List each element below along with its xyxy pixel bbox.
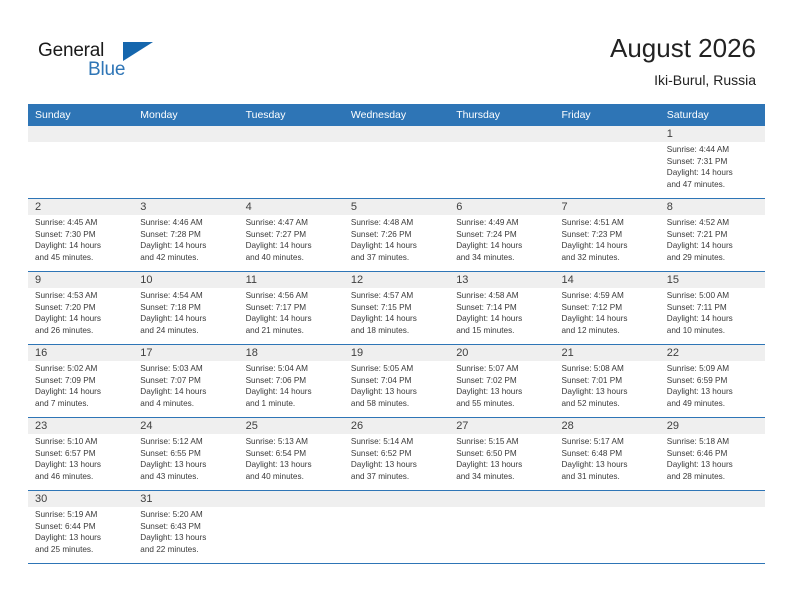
calendar-body: 1Sunrise: 4:44 AMSunset: 7:31 PMDaylight… (28, 126, 765, 564)
day-details: Sunrise: 4:52 AMSunset: 7:21 PMDaylight:… (660, 215, 765, 263)
sunrise-text: Sunrise: 5:18 AM (667, 436, 759, 448)
day-details: Sunrise: 4:59 AMSunset: 7:12 PMDaylight:… (554, 288, 659, 336)
calendar-day-cell[interactable]: 29Sunrise: 5:18 AMSunset: 6:46 PMDayligh… (660, 418, 765, 491)
calendar-day-cell[interactable]: 23Sunrise: 5:10 AMSunset: 6:57 PMDayligh… (28, 418, 133, 491)
daylight-text: Daylight: 13 hours (351, 386, 443, 398)
day-details: Sunrise: 4:56 AMSunset: 7:17 PMDaylight:… (239, 288, 344, 336)
sunrise-text: Sunrise: 4:52 AM (667, 217, 759, 229)
sunset-text: Sunset: 6:57 PM (35, 448, 127, 460)
day-details: Sunrise: 5:19 AMSunset: 6:44 PMDaylight:… (28, 507, 133, 555)
calendar-day-cell[interactable]: 28Sunrise: 5:17 AMSunset: 6:48 PMDayligh… (554, 418, 659, 491)
day-number: 15 (660, 272, 765, 288)
daylight-text-cont: and 4 minutes. (140, 398, 232, 410)
daylight-text-cont: and 22 minutes. (140, 544, 232, 556)
day-cell-inner: 13Sunrise: 4:58 AMSunset: 7:14 PMDayligh… (449, 272, 554, 344)
sunrise-text: Sunrise: 5:10 AM (35, 436, 127, 448)
sunrise-text: Sunrise: 5:08 AM (561, 363, 653, 375)
daylight-text: Daylight: 14 hours (140, 313, 232, 325)
day-details: Sunrise: 5:03 AMSunset: 7:07 PMDaylight:… (133, 361, 238, 409)
day-cell-inner: 11Sunrise: 4:56 AMSunset: 7:17 PMDayligh… (239, 272, 344, 344)
day-number: 23 (28, 418, 133, 434)
day-cell-inner: 4Sunrise: 4:47 AMSunset: 7:27 PMDaylight… (239, 199, 344, 271)
sunset-text: Sunset: 7:07 PM (140, 375, 232, 387)
day-cell-inner (449, 126, 554, 198)
day-number: 29 (660, 418, 765, 434)
calendar-day-cell-empty (344, 491, 449, 564)
calendar-day-cell-empty (239, 126, 344, 199)
day-details: Sunrise: 4:45 AMSunset: 7:30 PMDaylight:… (28, 215, 133, 263)
day-cell-inner: 9Sunrise: 4:53 AMSunset: 7:20 PMDaylight… (28, 272, 133, 344)
day-number (239, 126, 344, 142)
daylight-text: Daylight: 14 hours (35, 386, 127, 398)
sunset-text: Sunset: 7:31 PM (667, 156, 759, 168)
sunrise-text: Sunrise: 5:05 AM (351, 363, 443, 375)
sunrise-text: Sunrise: 4:51 AM (561, 217, 653, 229)
sunset-text: Sunset: 7:01 PM (561, 375, 653, 387)
sunset-text: Sunset: 7:21 PM (667, 229, 759, 241)
logo-text-blue: Blue (88, 59, 125, 81)
sunrise-text: Sunrise: 4:59 AM (561, 290, 653, 302)
sunset-text: Sunset: 7:24 PM (456, 229, 548, 241)
daylight-text-cont: and 32 minutes. (561, 252, 653, 264)
day-cell-inner: 29Sunrise: 5:18 AMSunset: 6:46 PMDayligh… (660, 418, 765, 490)
daylight-text: Daylight: 14 hours (246, 386, 338, 398)
daylight-text: Daylight: 14 hours (140, 240, 232, 252)
daylight-text-cont: and 18 minutes. (351, 325, 443, 337)
sunrise-text: Sunrise: 5:02 AM (35, 363, 127, 375)
day-number: 6 (449, 199, 554, 215)
page-subtitle: Iki-Burul, Russia (610, 70, 756, 90)
calendar-day-cell-empty (133, 126, 238, 199)
day-number: 28 (554, 418, 659, 434)
calendar-day-cell[interactable]: 14Sunrise: 4:59 AMSunset: 7:12 PMDayligh… (554, 272, 659, 345)
sunset-text: Sunset: 7:09 PM (35, 375, 127, 387)
calendar-day-cell-empty (554, 491, 659, 564)
day-cell-inner: 16Sunrise: 5:02 AMSunset: 7:09 PMDayligh… (28, 345, 133, 417)
title-block: August 2026 Iki-Burul, Russia (610, 32, 756, 90)
day-details: Sunrise: 5:15 AMSunset: 6:50 PMDaylight:… (449, 434, 554, 482)
daylight-text-cont: and 15 minutes. (456, 325, 548, 337)
day-number: 20 (449, 345, 554, 361)
daylight-text-cont: and 37 minutes. (351, 471, 443, 483)
daylight-text: Daylight: 14 hours (351, 240, 443, 252)
day-cell-inner: 25Sunrise: 5:13 AMSunset: 6:54 PMDayligh… (239, 418, 344, 490)
day-details: Sunrise: 4:54 AMSunset: 7:18 PMDaylight:… (133, 288, 238, 336)
day-details: Sunrise: 5:14 AMSunset: 6:52 PMDaylight:… (344, 434, 449, 482)
day-number (554, 126, 659, 142)
day-cell-inner (554, 126, 659, 198)
day-cell-inner: 1Sunrise: 4:44 AMSunset: 7:31 PMDaylight… (660, 126, 765, 198)
daylight-text: Daylight: 13 hours (246, 459, 338, 471)
sunset-text: Sunset: 7:15 PM (351, 302, 443, 314)
calendar-day-cell[interactable]: 27Sunrise: 5:15 AMSunset: 6:50 PMDayligh… (449, 418, 554, 491)
day-cell-inner (133, 126, 238, 198)
day-cell-inner: 22Sunrise: 5:09 AMSunset: 6:59 PMDayligh… (660, 345, 765, 417)
day-details: Sunrise: 4:57 AMSunset: 7:15 PMDaylight:… (344, 288, 449, 336)
daylight-text-cont: and 24 minutes. (140, 325, 232, 337)
day-number: 21 (554, 345, 659, 361)
daylight-text: Daylight: 13 hours (351, 459, 443, 471)
sunrise-text: Sunrise: 4:45 AM (35, 217, 127, 229)
daylight-text-cont: and 47 minutes. (667, 179, 759, 191)
sunset-text: Sunset: 7:20 PM (35, 302, 127, 314)
sunrise-text: Sunrise: 5:07 AM (456, 363, 548, 375)
daylight-text: Daylight: 13 hours (456, 459, 548, 471)
day-details: Sunrise: 5:12 AMSunset: 6:55 PMDaylight:… (133, 434, 238, 482)
sunset-text: Sunset: 6:52 PM (351, 448, 443, 460)
general-blue-logo[interactable]: General Blue (38, 40, 158, 90)
day-details: Sunrise: 5:13 AMSunset: 6:54 PMDaylight:… (239, 434, 344, 482)
sunset-text: Sunset: 6:59 PM (667, 375, 759, 387)
weekday-header-monday: Monday (133, 104, 238, 126)
sunrise-text: Sunrise: 4:48 AM (351, 217, 443, 229)
calendar-day-cell[interactable]: 3Sunrise: 4:46 AMSunset: 7:28 PMDaylight… (133, 199, 238, 272)
day-details: Sunrise: 5:10 AMSunset: 6:57 PMDaylight:… (28, 434, 133, 482)
page-header: General Blue August 2026 Iki-Burul, Russ… (0, 0, 792, 100)
day-number (660, 491, 765, 507)
day-number: 9 (28, 272, 133, 288)
day-number (344, 491, 449, 507)
daylight-text: Daylight: 14 hours (456, 240, 548, 252)
calendar-day-cell[interactable]: 15Sunrise: 5:00 AMSunset: 7:11 PMDayligh… (660, 272, 765, 345)
day-cell-inner: 8Sunrise: 4:52 AMSunset: 7:21 PMDaylight… (660, 199, 765, 271)
day-number: 5 (344, 199, 449, 215)
day-cell-inner (554, 491, 659, 563)
calendar-week-row: 2Sunrise: 4:45 AMSunset: 7:30 PMDaylight… (28, 199, 765, 272)
day-cell-inner: 24Sunrise: 5:12 AMSunset: 6:55 PMDayligh… (133, 418, 238, 490)
weekday-header-sunday: Sunday (28, 104, 133, 126)
daylight-text: Daylight: 14 hours (35, 240, 127, 252)
calendar-day-cell[interactable]: 18Sunrise: 5:04 AMSunset: 7:06 PMDayligh… (239, 345, 344, 418)
weekday-header-thursday: Thursday (449, 104, 554, 126)
daylight-text: Daylight: 14 hours (561, 240, 653, 252)
calendar-day-cell[interactable]: 5Sunrise: 4:48 AMSunset: 7:26 PMDaylight… (344, 199, 449, 272)
day-number: 11 (239, 272, 344, 288)
daylight-text-cont: and 1 minute. (246, 398, 338, 410)
daylight-text-cont: and 25 minutes. (35, 544, 127, 556)
calendar-day-cell[interactable]: 8Sunrise: 4:52 AMSunset: 7:21 PMDaylight… (660, 199, 765, 272)
sunrise-text: Sunrise: 4:58 AM (456, 290, 548, 302)
calendar-day-cell-empty (660, 491, 765, 564)
sunset-text: Sunset: 7:18 PM (140, 302, 232, 314)
day-details: Sunrise: 4:51 AMSunset: 7:23 PMDaylight:… (554, 215, 659, 263)
day-cell-inner (28, 126, 133, 198)
weekday-header-saturday: Saturday (660, 104, 765, 126)
daylight-text-cont: and 42 minutes. (140, 252, 232, 264)
day-cell-inner (239, 126, 344, 198)
day-number: 18 (239, 345, 344, 361)
calendar-day-cell[interactable]: 20Sunrise: 5:07 AMSunset: 7:02 PMDayligh… (449, 345, 554, 418)
sunset-text: Sunset: 6:48 PM (561, 448, 653, 460)
day-cell-inner: 26Sunrise: 5:14 AMSunset: 6:52 PMDayligh… (344, 418, 449, 490)
day-number (344, 126, 449, 142)
blue-triangle-flag-icon (123, 42, 153, 61)
day-cell-inner: 18Sunrise: 5:04 AMSunset: 7:06 PMDayligh… (239, 345, 344, 417)
daylight-text-cont: and 28 minutes. (667, 471, 759, 483)
day-cell-inner: 5Sunrise: 4:48 AMSunset: 7:26 PMDaylight… (344, 199, 449, 271)
calendar-day-cell[interactable]: 26Sunrise: 5:14 AMSunset: 6:52 PMDayligh… (344, 418, 449, 491)
day-number: 13 (449, 272, 554, 288)
daylight-text: Daylight: 14 hours (667, 167, 759, 179)
daylight-text: Daylight: 13 hours (561, 386, 653, 398)
day-number: 10 (133, 272, 238, 288)
daylight-text: Daylight: 14 hours (456, 313, 548, 325)
day-number: 24 (133, 418, 238, 434)
daylight-text: Daylight: 13 hours (35, 459, 127, 471)
day-number: 16 (28, 345, 133, 361)
calendar-day-cell[interactable]: 21Sunrise: 5:08 AMSunset: 7:01 PMDayligh… (554, 345, 659, 418)
calendar-day-cell[interactable]: 22Sunrise: 5:09 AMSunset: 6:59 PMDayligh… (660, 345, 765, 418)
sunrise-text: Sunrise: 5:12 AM (140, 436, 232, 448)
daylight-text-cont: and 34 minutes. (456, 252, 548, 264)
day-cell-inner: 3Sunrise: 4:46 AMSunset: 7:28 PMDaylight… (133, 199, 238, 271)
daylight-text-cont: and 29 minutes. (667, 252, 759, 264)
day-details: Sunrise: 4:53 AMSunset: 7:20 PMDaylight:… (28, 288, 133, 336)
day-number: 26 (344, 418, 449, 434)
day-details: Sunrise: 5:05 AMSunset: 7:04 PMDaylight:… (344, 361, 449, 409)
weekday-header-row: Sunday Monday Tuesday Wednesday Thursday… (28, 104, 765, 126)
daylight-text: Daylight: 13 hours (456, 386, 548, 398)
sunset-text: Sunset: 6:46 PM (667, 448, 759, 460)
day-details: Sunrise: 5:09 AMSunset: 6:59 PMDaylight:… (660, 361, 765, 409)
daylight-text-cont: and 26 minutes. (35, 325, 127, 337)
sunset-text: Sunset: 6:50 PM (456, 448, 548, 460)
day-cell-inner: 23Sunrise: 5:10 AMSunset: 6:57 PMDayligh… (28, 418, 133, 490)
day-cell-inner: 15Sunrise: 5:00 AMSunset: 7:11 PMDayligh… (660, 272, 765, 344)
daylight-text: Daylight: 14 hours (140, 386, 232, 398)
daylight-text-cont: and 31 minutes. (561, 471, 653, 483)
day-details: Sunrise: 4:48 AMSunset: 7:26 PMDaylight:… (344, 215, 449, 263)
daylight-text-cont: and 34 minutes. (456, 471, 548, 483)
day-number: 1 (660, 126, 765, 142)
day-number: 27 (449, 418, 554, 434)
daylight-text-cont: and 45 minutes. (35, 252, 127, 264)
day-cell-inner: 14Sunrise: 4:59 AMSunset: 7:12 PMDayligh… (554, 272, 659, 344)
day-number (239, 491, 344, 507)
sunset-text: Sunset: 7:02 PM (456, 375, 548, 387)
sunset-text: Sunset: 7:12 PM (561, 302, 653, 314)
day-cell-inner (449, 491, 554, 563)
calendar-day-cell[interactable]: 31Sunrise: 5:20 AMSunset: 6:43 PMDayligh… (133, 491, 238, 564)
day-number (133, 126, 238, 142)
sunrise-text: Sunrise: 4:44 AM (667, 144, 759, 156)
sunset-text: Sunset: 7:28 PM (140, 229, 232, 241)
daylight-text: Daylight: 14 hours (667, 240, 759, 252)
calendar-table: Sunday Monday Tuesday Wednesday Thursday… (28, 104, 765, 564)
sunrise-text: Sunrise: 5:20 AM (140, 509, 232, 521)
day-cell-inner (239, 491, 344, 563)
sunset-text: Sunset: 6:54 PM (246, 448, 338, 460)
daylight-text: Daylight: 14 hours (35, 313, 127, 325)
calendar-day-cell[interactable]: 7Sunrise: 4:51 AMSunset: 7:23 PMDaylight… (554, 199, 659, 272)
day-cell-inner: 17Sunrise: 5:03 AMSunset: 7:07 PMDayligh… (133, 345, 238, 417)
daylight-text-cont: and 43 minutes. (140, 471, 232, 483)
calendar-week-row: 30Sunrise: 5:19 AMSunset: 6:44 PMDayligh… (28, 491, 765, 564)
day-cell-inner: 28Sunrise: 5:17 AMSunset: 6:48 PMDayligh… (554, 418, 659, 490)
day-number (554, 491, 659, 507)
sunset-text: Sunset: 7:30 PM (35, 229, 127, 241)
sunset-text: Sunset: 7:17 PM (246, 302, 338, 314)
calendar-page: General Blue August 2026 Iki-Burul, Russ… (0, 0, 792, 612)
day-details: Sunrise: 5:17 AMSunset: 6:48 PMDaylight:… (554, 434, 659, 482)
daylight-text-cont: and 21 minutes. (246, 325, 338, 337)
calendar-day-cell-empty (239, 491, 344, 564)
day-number: 2 (28, 199, 133, 215)
sunset-text: Sunset: 7:23 PM (561, 229, 653, 241)
weekday-header-tuesday: Tuesday (239, 104, 344, 126)
day-number: 3 (133, 199, 238, 215)
day-details: Sunrise: 5:08 AMSunset: 7:01 PMDaylight:… (554, 361, 659, 409)
calendar-day-cell-empty (344, 126, 449, 199)
weekday-header-friday: Friday (554, 104, 659, 126)
day-number (28, 126, 133, 142)
sunset-text: Sunset: 7:06 PM (246, 375, 338, 387)
sunrise-text: Sunrise: 4:49 AM (456, 217, 548, 229)
day-number: 14 (554, 272, 659, 288)
day-details: Sunrise: 4:44 AMSunset: 7:31 PMDaylight:… (660, 142, 765, 190)
day-cell-inner (344, 126, 449, 198)
daylight-text-cont: and 52 minutes. (561, 398, 653, 410)
calendar-week-row: 9Sunrise: 4:53 AMSunset: 7:20 PMDaylight… (28, 272, 765, 345)
day-cell-inner: 30Sunrise: 5:19 AMSunset: 6:44 PMDayligh… (28, 491, 133, 563)
sunset-text: Sunset: 7:11 PM (667, 302, 759, 314)
calendar-day-cell[interactable]: 25Sunrise: 5:13 AMSunset: 6:54 PMDayligh… (239, 418, 344, 491)
sunset-text: Sunset: 6:44 PM (35, 521, 127, 533)
sunset-text: Sunset: 7:14 PM (456, 302, 548, 314)
day-cell-inner: 12Sunrise: 4:57 AMSunset: 7:15 PMDayligh… (344, 272, 449, 344)
daylight-text: Daylight: 14 hours (667, 313, 759, 325)
calendar-day-cell[interactable]: 12Sunrise: 4:57 AMSunset: 7:15 PMDayligh… (344, 272, 449, 345)
daylight-text-cont: and 10 minutes. (667, 325, 759, 337)
day-number: 12 (344, 272, 449, 288)
calendar-day-cell-empty (28, 126, 133, 199)
day-number: 8 (660, 199, 765, 215)
calendar-day-cell[interactable]: 4Sunrise: 4:47 AMSunset: 7:27 PMDaylight… (239, 199, 344, 272)
calendar-day-cell[interactable]: 6Sunrise: 4:49 AMSunset: 7:24 PMDaylight… (449, 199, 554, 272)
sunrise-text: Sunrise: 5:00 AM (667, 290, 759, 302)
daylight-text: Daylight: 13 hours (140, 459, 232, 471)
day-number: 25 (239, 418, 344, 434)
day-number: 19 (344, 345, 449, 361)
daylight-text: Daylight: 13 hours (140, 532, 232, 544)
calendar-day-cell[interactable]: 10Sunrise: 4:54 AMSunset: 7:18 PMDayligh… (133, 272, 238, 345)
daylight-text: Daylight: 13 hours (35, 532, 127, 544)
day-cell-inner: 7Sunrise: 4:51 AMSunset: 7:23 PMDaylight… (554, 199, 659, 271)
sunrise-text: Sunrise: 5:19 AM (35, 509, 127, 521)
day-details: Sunrise: 5:07 AMSunset: 7:02 PMDaylight:… (449, 361, 554, 409)
sunrise-text: Sunrise: 4:53 AM (35, 290, 127, 302)
calendar-day-cell-empty (449, 126, 554, 199)
day-number: 30 (28, 491, 133, 507)
day-details: Sunrise: 5:04 AMSunset: 7:06 PMDaylight:… (239, 361, 344, 409)
daylight-text: Daylight: 13 hours (561, 459, 653, 471)
sunrise-text: Sunrise: 5:03 AM (140, 363, 232, 375)
day-details: Sunrise: 5:02 AMSunset: 7:09 PMDaylight:… (28, 361, 133, 409)
daylight-text-cont: and 55 minutes. (456, 398, 548, 410)
daylight-text: Daylight: 13 hours (667, 386, 759, 398)
sunrise-text: Sunrise: 5:09 AM (667, 363, 759, 375)
sunset-text: Sunset: 6:43 PM (140, 521, 232, 533)
calendar-week-row: 1Sunrise: 4:44 AMSunset: 7:31 PMDaylight… (28, 126, 765, 199)
day-details: Sunrise: 4:58 AMSunset: 7:14 PMDaylight:… (449, 288, 554, 336)
daylight-text: Daylight: 14 hours (351, 313, 443, 325)
daylight-text: Daylight: 14 hours (561, 313, 653, 325)
calendar-day-cell[interactable]: 19Sunrise: 5:05 AMSunset: 7:04 PMDayligh… (344, 345, 449, 418)
sunrise-text: Sunrise: 5:13 AM (246, 436, 338, 448)
sunrise-text: Sunrise: 4:56 AM (246, 290, 338, 302)
calendar-day-cell-empty (554, 126, 659, 199)
day-cell-inner: 10Sunrise: 4:54 AMSunset: 7:18 PMDayligh… (133, 272, 238, 344)
calendar-day-cell[interactable]: 30Sunrise: 5:19 AMSunset: 6:44 PMDayligh… (28, 491, 133, 564)
day-cell-inner: 31Sunrise: 5:20 AMSunset: 6:43 PMDayligh… (133, 491, 238, 563)
day-details: Sunrise: 5:00 AMSunset: 7:11 PMDaylight:… (660, 288, 765, 336)
day-details: Sunrise: 5:18 AMSunset: 6:46 PMDaylight:… (660, 434, 765, 482)
calendar-day-cell[interactable]: 9Sunrise: 4:53 AMSunset: 7:20 PMDaylight… (28, 272, 133, 345)
day-number: 17 (133, 345, 238, 361)
daylight-text-cont: and 40 minutes. (246, 252, 338, 264)
calendar-day-cell[interactable]: 17Sunrise: 5:03 AMSunset: 7:07 PMDayligh… (133, 345, 238, 418)
calendar-day-cell[interactable]: 1Sunrise: 4:44 AMSunset: 7:31 PMDaylight… (660, 126, 765, 199)
daylight-text-cont: and 46 minutes. (35, 471, 127, 483)
day-cell-inner: 2Sunrise: 4:45 AMSunset: 7:30 PMDaylight… (28, 199, 133, 271)
daylight-text-cont: and 40 minutes. (246, 471, 338, 483)
sunset-text: Sunset: 7:04 PM (351, 375, 443, 387)
day-number: 7 (554, 199, 659, 215)
calendar-day-cell[interactable]: 2Sunrise: 4:45 AMSunset: 7:30 PMDaylight… (28, 199, 133, 272)
sunset-text: Sunset: 7:26 PM (351, 229, 443, 241)
daylight-text-cont: and 12 minutes. (561, 325, 653, 337)
calendar-day-cell[interactable]: 13Sunrise: 4:58 AMSunset: 7:14 PMDayligh… (449, 272, 554, 345)
sunset-text: Sunset: 7:27 PM (246, 229, 338, 241)
sunrise-text: Sunrise: 4:46 AM (140, 217, 232, 229)
day-details: Sunrise: 4:49 AMSunset: 7:24 PMDaylight:… (449, 215, 554, 263)
day-cell-inner: 21Sunrise: 5:08 AMSunset: 7:01 PMDayligh… (554, 345, 659, 417)
day-number (449, 491, 554, 507)
calendar-week-row: 23Sunrise: 5:10 AMSunset: 6:57 PMDayligh… (28, 418, 765, 491)
daylight-text: Daylight: 13 hours (667, 459, 759, 471)
day-cell-inner (344, 491, 449, 563)
sunrise-text: Sunrise: 5:15 AM (456, 436, 548, 448)
day-cell-inner: 20Sunrise: 5:07 AMSunset: 7:02 PMDayligh… (449, 345, 554, 417)
calendar-day-cell[interactable]: 11Sunrise: 4:56 AMSunset: 7:17 PMDayligh… (239, 272, 344, 345)
sunrise-text: Sunrise: 4:57 AM (351, 290, 443, 302)
calendar-day-cell[interactable]: 24Sunrise: 5:12 AMSunset: 6:55 PMDayligh… (133, 418, 238, 491)
day-number (449, 126, 554, 142)
daylight-text-cont: and 37 minutes. (351, 252, 443, 264)
daylight-text-cont: and 7 minutes. (35, 398, 127, 410)
page-title: August 2026 (610, 32, 756, 64)
calendar-day-cell-empty (449, 491, 554, 564)
day-cell-inner: 27Sunrise: 5:15 AMSunset: 6:50 PMDayligh… (449, 418, 554, 490)
daylight-text: Daylight: 14 hours (246, 240, 338, 252)
sunrise-text: Sunrise: 5:17 AM (561, 436, 653, 448)
sunrise-text: Sunrise: 5:14 AM (351, 436, 443, 448)
weekday-header-wednesday: Wednesday (344, 104, 449, 126)
daylight-text-cont: and 58 minutes. (351, 398, 443, 410)
sunset-text: Sunset: 6:55 PM (140, 448, 232, 460)
day-details: Sunrise: 4:46 AMSunset: 7:28 PMDaylight:… (133, 215, 238, 263)
day-details: Sunrise: 4:47 AMSunset: 7:27 PMDaylight:… (239, 215, 344, 263)
day-cell-inner: 19Sunrise: 5:05 AMSunset: 7:04 PMDayligh… (344, 345, 449, 417)
day-cell-inner (660, 491, 765, 563)
day-details: Sunrise: 5:20 AMSunset: 6:43 PMDaylight:… (133, 507, 238, 555)
day-number: 31 (133, 491, 238, 507)
sunrise-text: Sunrise: 4:54 AM (140, 290, 232, 302)
daylight-text: Daylight: 14 hours (246, 313, 338, 325)
sunrise-text: Sunrise: 5:04 AM (246, 363, 338, 375)
day-number: 22 (660, 345, 765, 361)
calendar-day-cell[interactable]: 16Sunrise: 5:02 AMSunset: 7:09 PMDayligh… (28, 345, 133, 418)
